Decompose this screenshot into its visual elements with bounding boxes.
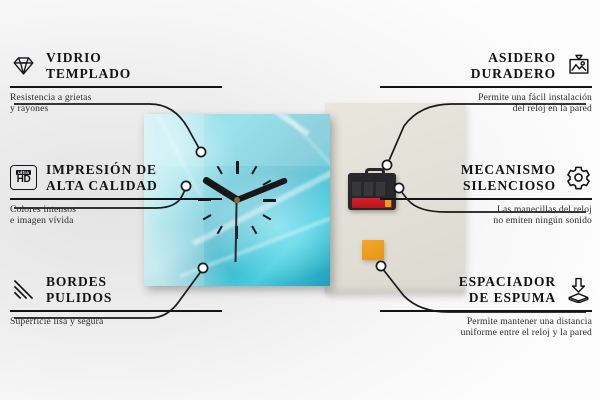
diamond-icon	[10, 52, 37, 79]
feature-subtitle-line1: Las manecillas del reloj	[380, 204, 592, 215]
polished-edges-icon	[10, 276, 37, 303]
divider	[10, 86, 222, 88]
feature-title: ASIDERO DURADERO	[471, 50, 556, 81]
foam-spacer-arrow-icon	[565, 276, 592, 303]
feature-title: IMPRESIÓN DE ALTA CALIDAD	[46, 162, 158, 193]
badge-hd-text: HD	[17, 175, 31, 185]
ultra-hd-badge-icon: ultra HD	[10, 165, 37, 190]
feature-subtitle-line1: Permite una fácil instalación	[380, 92, 592, 103]
divider	[380, 198, 592, 200]
feature-espaciador-de-espuma: ESPACIADOR DE ESPUMA Permite mantener un…	[380, 274, 592, 338]
feature-subtitle-line2: uniforme entre el reloj y la pared	[380, 327, 592, 338]
gear-icon	[565, 164, 592, 191]
feature-title: MECANISMO SILENCIOSO	[461, 162, 556, 193]
feature-asidero-duradero: ASIDERO DURADERO Permite una fácil insta…	[380, 50, 592, 114]
feature-subtitle-line2: no emiten ningún sonido	[380, 215, 592, 226]
infographic-canvas: VIDRIO TEMPLADO Resistencia a grietas y …	[0, 0, 600, 400]
feature-subtitle-line1: Colores intensos	[10, 204, 222, 215]
feature-bordes-pulidos: BORDES PULIDOS Superficie lisa y segura	[10, 274, 222, 327]
clock-center-cap	[234, 197, 240, 203]
feature-title: ESPACIADOR DE ESPUMA	[459, 274, 556, 305]
feature-subtitle-line1: Superficie lisa y segura	[10, 316, 222, 327]
feature-subtitle-line2: e imagen vívida	[10, 215, 222, 226]
feature-header: ASIDERO DURADERO	[380, 50, 592, 81]
feature-header: ultra HD IMPRESIÓN DE ALTA CALIDAD	[10, 162, 222, 193]
picture-hanger-icon	[565, 52, 592, 79]
feature-header: MECANISMO SILENCIOSO	[380, 162, 592, 193]
feature-subtitle-line1: Permite mantener una distancia	[380, 316, 592, 327]
divider	[380, 86, 592, 88]
feature-header: ESPACIADOR DE ESPUMA	[380, 274, 592, 305]
feature-subtitle-line1: Resistencia a grietas	[10, 92, 222, 103]
divider	[10, 310, 222, 312]
divider	[380, 310, 592, 312]
feature-title: BORDES PULIDOS	[46, 274, 112, 305]
foam-spacer-part	[362, 240, 384, 260]
feature-impresion-alta-calidad: ultra HD IMPRESIÓN DE ALTA CALIDAD Color…	[10, 162, 222, 226]
feature-mecanismo-silencioso: MECANISMO SILENCIOSO Las manecillas del …	[380, 162, 592, 226]
feature-header: BORDES PULIDOS	[10, 274, 222, 305]
feature-vidrio-templado: VIDRIO TEMPLADO Resistencia a grietas y …	[10, 50, 222, 114]
divider	[10, 198, 222, 200]
feature-header: VIDRIO TEMPLADO	[10, 50, 222, 81]
feature-subtitle-line2: del reloj en la pared	[380, 103, 592, 114]
feature-subtitle-line2: y rayones	[10, 103, 222, 114]
feature-title: VIDRIO TEMPLADO	[46, 50, 131, 81]
